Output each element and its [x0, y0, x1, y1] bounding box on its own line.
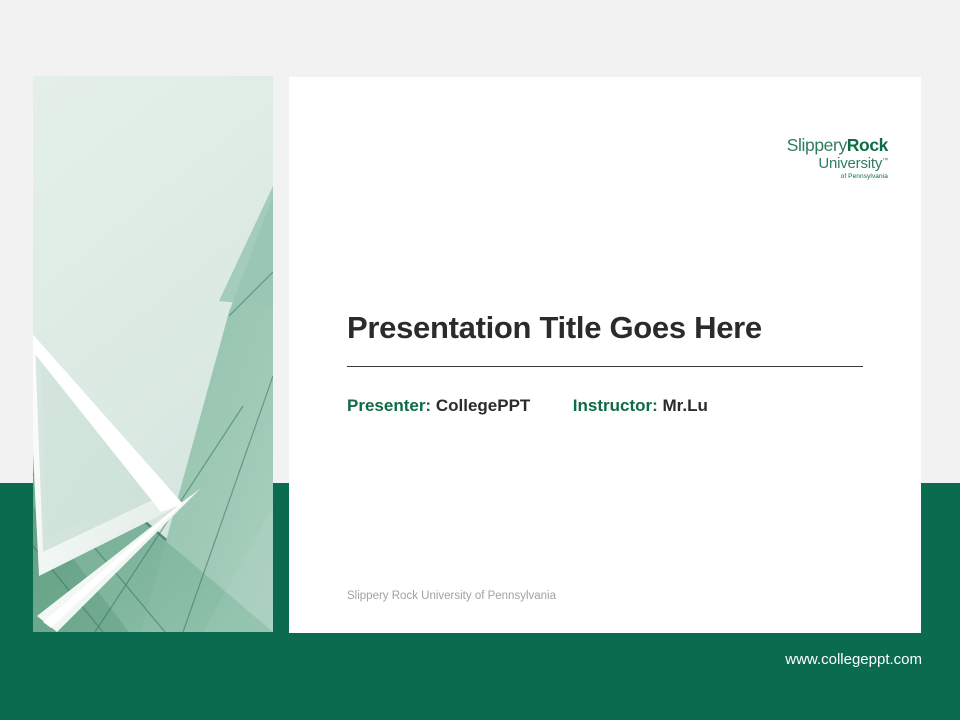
logo-word-slippery: Slippery [787, 135, 847, 155]
title-divider [347, 366, 863, 367]
logo-wordmark-line1: SlipperyRock [787, 137, 888, 155]
logo-word-university: University [818, 155, 882, 172]
logo-wordmark-line3: of Pennsylvania [787, 174, 888, 181]
trademark-icon: ™ [882, 158, 888, 164]
decorative-photo [33, 76, 273, 632]
logo-wordmark-line2: University™ [818, 156, 888, 171]
page-title: Presentation Title Goes Here [347, 310, 762, 346]
site-url: www.collegeppt.com [785, 651, 922, 668]
university-logo: SlipperyRock University™ of Pennsylvania [787, 137, 888, 180]
instructor-label: Instructor: [573, 396, 658, 415]
instructor-value: Mr.Lu [663, 396, 708, 415]
ceiling-skylight-illustration [33, 76, 273, 632]
presenter-value: CollegePPT [436, 396, 530, 415]
slide-canvas: SlipperyRock University™ of Pennsylvania… [0, 0, 960, 720]
logo-word-rock: Rock [847, 135, 888, 155]
slide-footer-text: Slippery Rock University of Pennsylvania [347, 590, 556, 602]
presenter-label: Presenter: [347, 396, 431, 415]
byline: Presenter: CollegePPT Instructor: Mr.Lu [347, 396, 708, 416]
slide-body: SlipperyRock University™ of Pennsylvania… [289, 77, 921, 633]
